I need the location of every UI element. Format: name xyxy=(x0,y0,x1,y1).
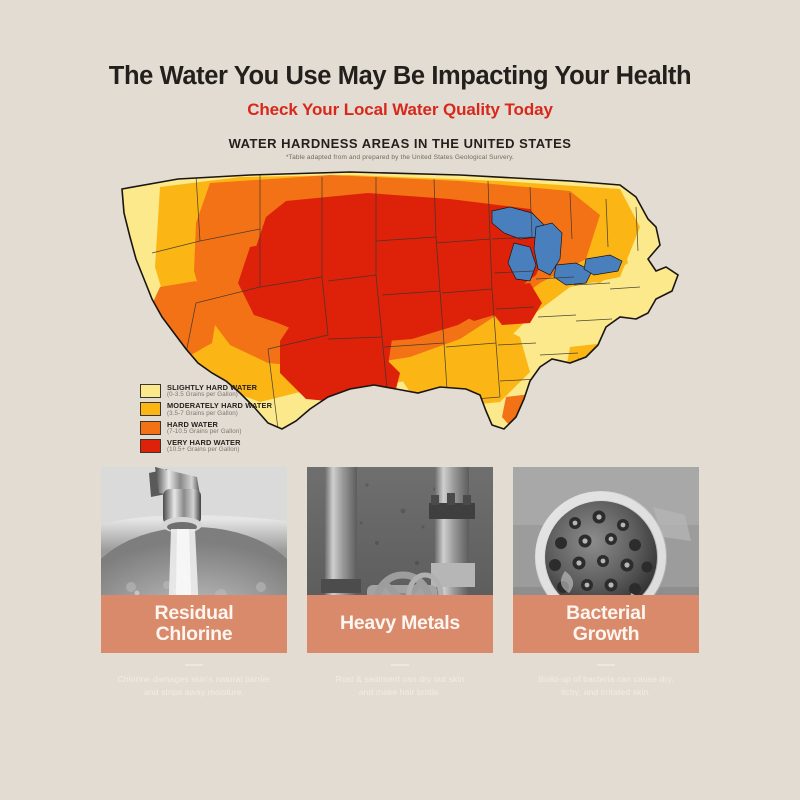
card-divider xyxy=(597,664,615,666)
legend-item-hard: HARD WATER (7-10.5 Grains per Gallon) xyxy=(140,420,340,436)
card-title-residual-chlorine: Residual Chlorine xyxy=(155,603,234,645)
legend-swatch-slightly-hard xyxy=(140,384,161,398)
card-caption-bacterial-growth: Build-up of bacteria can cause dry, itch… xyxy=(513,673,699,700)
legend-swatch-very-hard xyxy=(140,439,161,453)
card-banner-heavy-metals: Heavy Metals xyxy=(307,595,493,653)
page-subtitle: Check Your Local Water Quality Today xyxy=(0,100,800,120)
legend-item-moderately-hard: MODERATELY HARD WATER (3.5-7 Grains per … xyxy=(140,401,340,417)
page-title: The Water You Use May Be Impacting Your … xyxy=(0,62,800,91)
card-title-heavy-metals: Heavy Metals xyxy=(340,613,460,634)
map-section-heading: WATER HARDNESS AREAS IN THE UNITED STATE… xyxy=(0,136,800,151)
source-footnote: *Table adapted from and prepared by the … xyxy=(0,154,800,161)
map-legend: SLIGHTLY HARD WATER (0-3.5 Grains per Ga… xyxy=(140,383,340,456)
map-container xyxy=(0,167,800,467)
legend-range-very-hard: (10.5+ Grains per Gallon) xyxy=(167,447,241,454)
faucet-running-water-photo: Residual Chlorine xyxy=(101,467,287,653)
legend-item-very-hard: VERY HARD WATER (10.5+ Grains per Gallon… xyxy=(140,438,340,454)
card-bacterial-growth: Bacterial Growth Build-up of bacteria ca… xyxy=(513,467,699,700)
infographic-page: The Water You Use May Be Impacting Your … xyxy=(0,0,800,800)
card-banner-residual-chlorine: Residual Chlorine xyxy=(101,595,287,653)
card-caption-residual-chlorine: Chlorine damages skin's natural barrier … xyxy=(101,673,287,700)
clogged-shower-head-photo: Bacterial Growth xyxy=(513,467,699,653)
card-caption-heavy-metals: Rust & sediment can dry out skin and mak… xyxy=(307,673,493,700)
legend-label-moderately-hard: MODERATELY HARD WATER xyxy=(167,402,272,410)
concern-cards: Residual Chlorine Chlorine damages skin'… xyxy=(0,467,800,700)
rusty-pipes-valve-photo: Heavy Metals xyxy=(307,467,493,653)
card-heavy-metals: Heavy Metals Rust & sediment can dry out… xyxy=(307,467,493,700)
card-divider xyxy=(391,664,409,666)
legend-range-moderately-hard: (3.5-7 Grains per Gallon) xyxy=(167,411,272,418)
card-residual-chlorine: Residual Chlorine Chlorine damages skin'… xyxy=(101,467,287,700)
legend-swatch-moderately-hard xyxy=(140,402,161,416)
card-title-bacterial-growth: Bacterial Growth xyxy=(566,603,646,645)
legend-swatch-hard xyxy=(140,421,161,435)
header: The Water You Use May Be Impacting Your … xyxy=(0,0,800,161)
card-banner-bacterial-growth: Bacterial Growth xyxy=(513,595,699,653)
legend-range-slightly-hard: (0-3.5 Grains per Gallon) xyxy=(167,392,257,399)
legend-item-slightly-hard: SLIGHTLY HARD WATER (0-3.5 Grains per Ga… xyxy=(140,383,340,399)
card-divider xyxy=(185,664,203,666)
legend-range-hard: (7-10.5 Grains per Gallon) xyxy=(167,429,241,436)
